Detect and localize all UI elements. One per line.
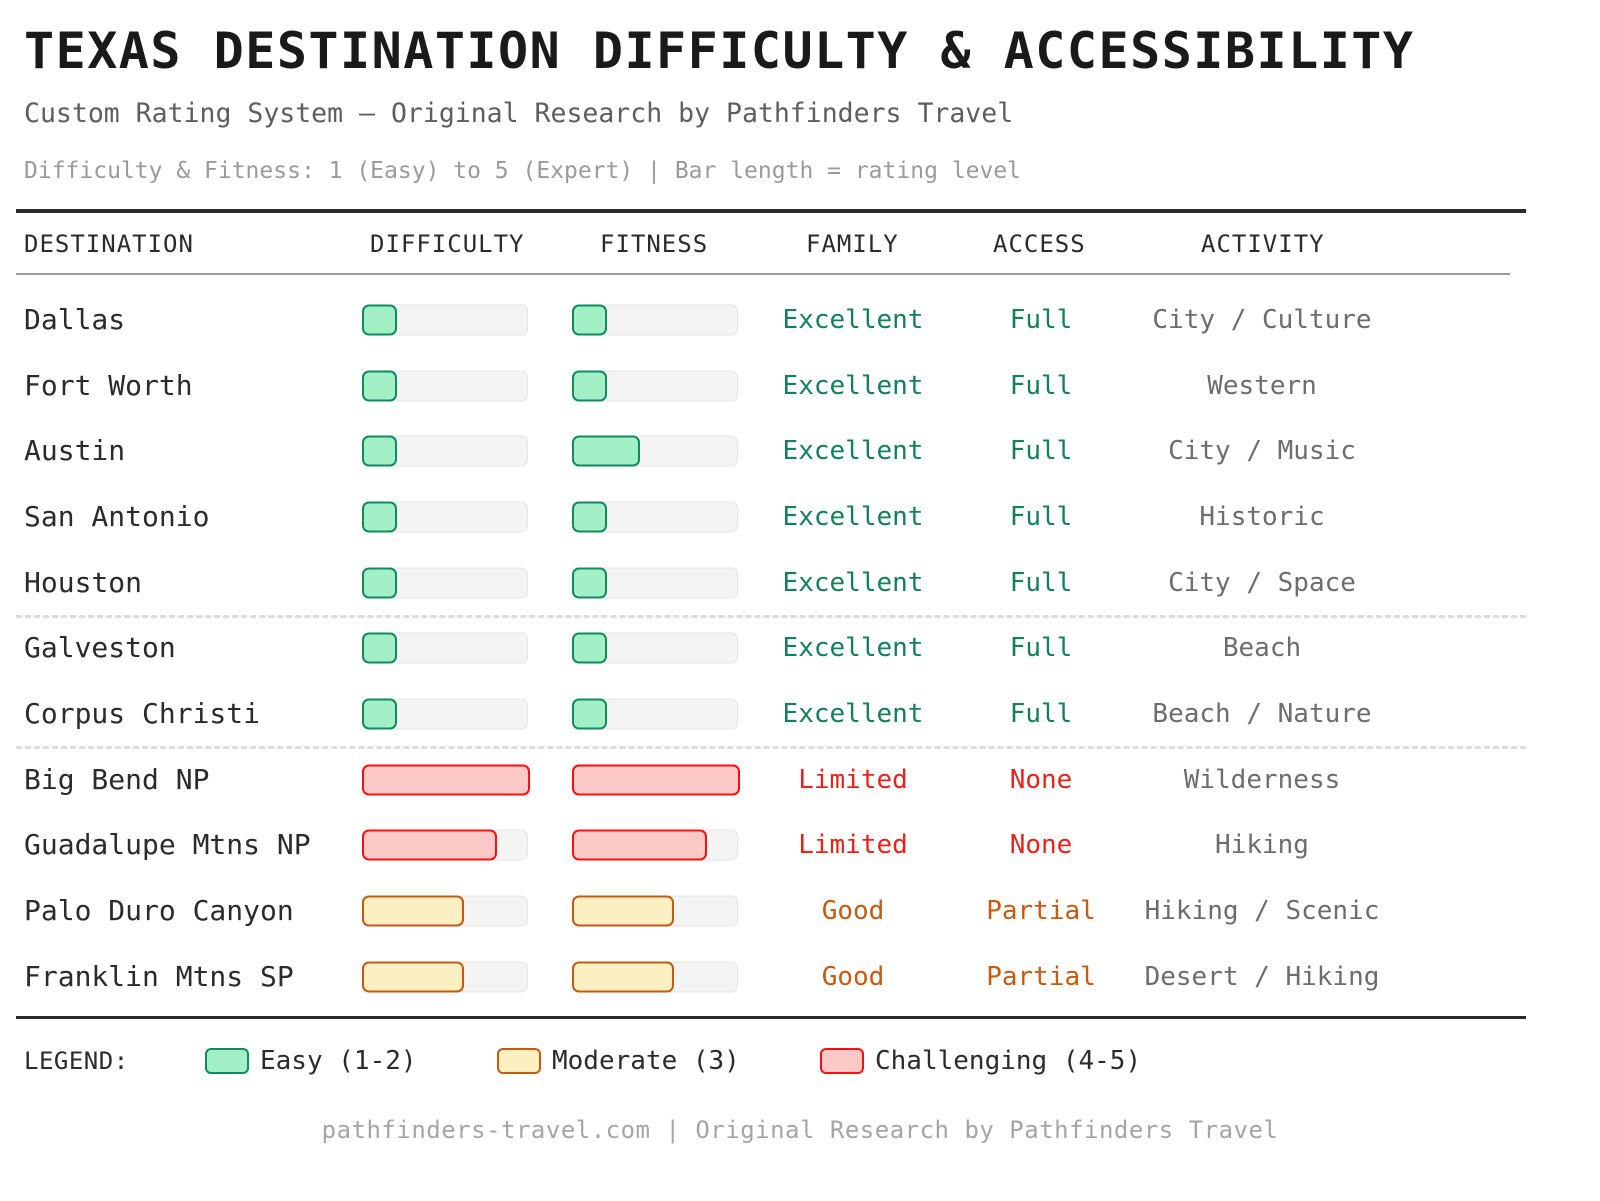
activity-type: Wilderness (1184, 767, 1341, 793)
difficulty-bar-fill (362, 764, 530, 795)
access-rating: Full (1010, 307, 1073, 333)
activity-type: City / Space (1168, 570, 1356, 596)
family-rating: Excellent (783, 635, 924, 661)
column-header-fitness: FITNESS (600, 232, 708, 256)
activity-type: Western (1207, 373, 1317, 399)
column-header-family: FAMILY (806, 232, 899, 256)
table-row: Big Bend NPLimitedNoneWilderness (0, 747, 1600, 813)
access-rating: Partial (986, 898, 1096, 924)
access-rating: Full (1010, 504, 1073, 530)
difficulty-bar-fill (362, 896, 464, 927)
activity-type: Desert / Hiking (1145, 964, 1380, 990)
difficulty-bar-fill (362, 698, 397, 729)
footer-attribution: pathfinders-travel.com | Original Resear… (0, 1118, 1600, 1142)
access-rating: Full (1010, 570, 1073, 596)
destination-name: Guadalupe Mtns NP (24, 831, 311, 859)
table-row: Guadalupe Mtns NPLimitedNoneHiking (0, 813, 1600, 879)
access-rating: None (1010, 832, 1073, 858)
destination-name: San Antonio (24, 503, 209, 531)
fitness-bar-track (572, 961, 738, 992)
fitness-bar-track (572, 830, 738, 861)
access-rating: Partial (986, 964, 1096, 990)
destination-name: Galveston (24, 634, 176, 662)
fitness-bar-track (572, 436, 738, 467)
family-rating: Limited (798, 767, 908, 793)
table-row: San AntonioExcellentFullHistoric (0, 484, 1600, 550)
fitness-bar-fill (572, 961, 674, 992)
table-row: AustinExcellentFullCity / Music (0, 418, 1600, 484)
difficulty-bar-track (362, 764, 528, 795)
family-rating: Good (822, 964, 885, 990)
table-row: Corpus ChristiExcellentFullBeach / Natur… (0, 681, 1600, 747)
destination-name: Dallas (24, 306, 125, 334)
family-rating: Excellent (783, 504, 924, 530)
difficulty-bar-fill (362, 436, 397, 467)
legend: LEGEND: Easy (1-2) Moderate (3) Challeng… (0, 1040, 1600, 1082)
legend-text-easy: Easy (1-2) (260, 1048, 417, 1074)
legend-text-moderate: Moderate (3) (552, 1048, 740, 1074)
access-rating: None (1010, 767, 1073, 793)
table-row: Palo Duro CanyonGoodPartialHiking / Scen… (0, 878, 1600, 944)
destination-table: DallasExcellentFullCity / CultureFort Wo… (0, 287, 1600, 1010)
fitness-bar-track (572, 370, 738, 401)
difficulty-bar-fill (362, 961, 464, 992)
family-rating: Excellent (783, 307, 924, 333)
header-rule-bottom (16, 273, 1510, 275)
legend-item-easy: Easy (1-2) (205, 1048, 417, 1074)
fitness-bar-fill (572, 764, 740, 795)
difficulty-bar-track (362, 830, 528, 861)
fitness-bar-fill (572, 304, 607, 335)
activity-type: Historic (1199, 504, 1324, 530)
destination-name: Franklin Mtns SP (24, 963, 294, 991)
fitness-bar-fill (572, 567, 607, 598)
destination-name: Corpus Christi (24, 700, 260, 728)
difficulty-bar-fill (362, 830, 497, 861)
fitness-bar-fill (572, 698, 607, 729)
table-row: Franklin Mtns SPGoodPartialDesert / Hiki… (0, 944, 1600, 1010)
family-rating: Excellent (783, 570, 924, 596)
fitness-bar-track (572, 698, 738, 729)
difficulty-bar-fill (362, 304, 397, 335)
column-header-access: ACCESS (993, 232, 1086, 256)
activity-type: Beach / Nature (1152, 701, 1371, 727)
family-rating: Excellent (783, 701, 924, 727)
difficulty-bar-track (362, 896, 528, 927)
header-rule-top (16, 209, 1526, 213)
fitness-bar-fill (572, 436, 640, 467)
access-rating: Full (1010, 373, 1073, 399)
page-subtitle: Custom Rating System — Original Research… (24, 101, 1013, 128)
fitness-bar-fill (572, 501, 607, 532)
fitness-bar-fill (572, 896, 674, 927)
access-rating: Full (1010, 635, 1073, 661)
activity-type: Hiking / Scenic (1145, 898, 1380, 924)
legend-swatch-easy (205, 1048, 249, 1074)
table-row: GalvestonExcellentFullBeach (0, 615, 1600, 681)
difficulty-bar-fill (362, 633, 397, 664)
fitness-bar-track (572, 896, 738, 927)
page-title: TEXAS DESTINATION DIFFICULTY & ACCESSIBI… (24, 26, 1415, 76)
activity-type: Hiking (1215, 832, 1309, 858)
fitness-bar-track (572, 764, 738, 795)
access-rating: Full (1010, 701, 1073, 727)
family-rating: Limited (798, 832, 908, 858)
table-row: Fort WorthExcellentFullWestern (0, 353, 1600, 419)
footer-rule (16, 1016, 1526, 1019)
destination-name: Houston (24, 569, 142, 597)
family-rating: Excellent (783, 438, 924, 464)
difficulty-bar-track (362, 370, 528, 401)
difficulty-bar-fill (362, 567, 397, 598)
difficulty-bar-track (362, 698, 528, 729)
column-header-activity: ACTIVITY (1201, 232, 1325, 256)
family-rating: Good (822, 898, 885, 924)
fitness-bar-track (572, 633, 738, 664)
table-row: DallasExcellentFullCity / Culture (0, 287, 1600, 353)
fitness-bar-fill (572, 370, 607, 401)
table-row: HoustonExcellentFullCity / Space (0, 550, 1600, 616)
legend-item-challenging: Challenging (4-5) (820, 1048, 1141, 1074)
activity-type: City / Culture (1152, 307, 1371, 333)
difficulty-bar-track (362, 501, 528, 532)
destination-name: Big Bend NP (24, 766, 209, 794)
destination-name: Palo Duro Canyon (24, 897, 294, 925)
difficulty-bar-track (362, 633, 528, 664)
fitness-bar-fill (572, 830, 707, 861)
legend-item-moderate: Moderate (3) (497, 1048, 740, 1074)
legend-swatch-challenging (820, 1048, 864, 1074)
destination-name: Fort Worth (24, 372, 193, 400)
difficulty-bar-fill (362, 501, 397, 532)
difficulty-bar-track (362, 436, 528, 467)
scale-note: Difficulty & Fitness: 1 (Easy) to 5 (Exp… (24, 160, 1021, 183)
difficulty-bar-track (362, 304, 528, 335)
column-header-difficulty: DIFFICULTY (370, 232, 525, 256)
difficulty-bar-fill (362, 370, 397, 401)
fitness-bar-track (572, 304, 738, 335)
legend-swatch-moderate (497, 1048, 541, 1074)
family-rating: Excellent (783, 373, 924, 399)
column-header-destination: DESTINATION (24, 232, 194, 256)
activity-type: Beach (1223, 635, 1301, 661)
legend-label: LEGEND: (24, 1049, 129, 1073)
access-rating: Full (1010, 438, 1073, 464)
activity-type: City / Music (1168, 438, 1356, 464)
difficulty-bar-track (362, 961, 528, 992)
fitness-bar-track (572, 501, 738, 532)
fitness-bar-track (572, 567, 738, 598)
fitness-bar-fill (572, 633, 607, 664)
infographic-page: TEXAS DESTINATION DIFFICULTY & ACCESSIBI… (0, 0, 1600, 1201)
legend-text-challenging: Challenging (4-5) (875, 1048, 1141, 1074)
destination-name: Austin (24, 437, 125, 465)
difficulty-bar-track (362, 567, 528, 598)
